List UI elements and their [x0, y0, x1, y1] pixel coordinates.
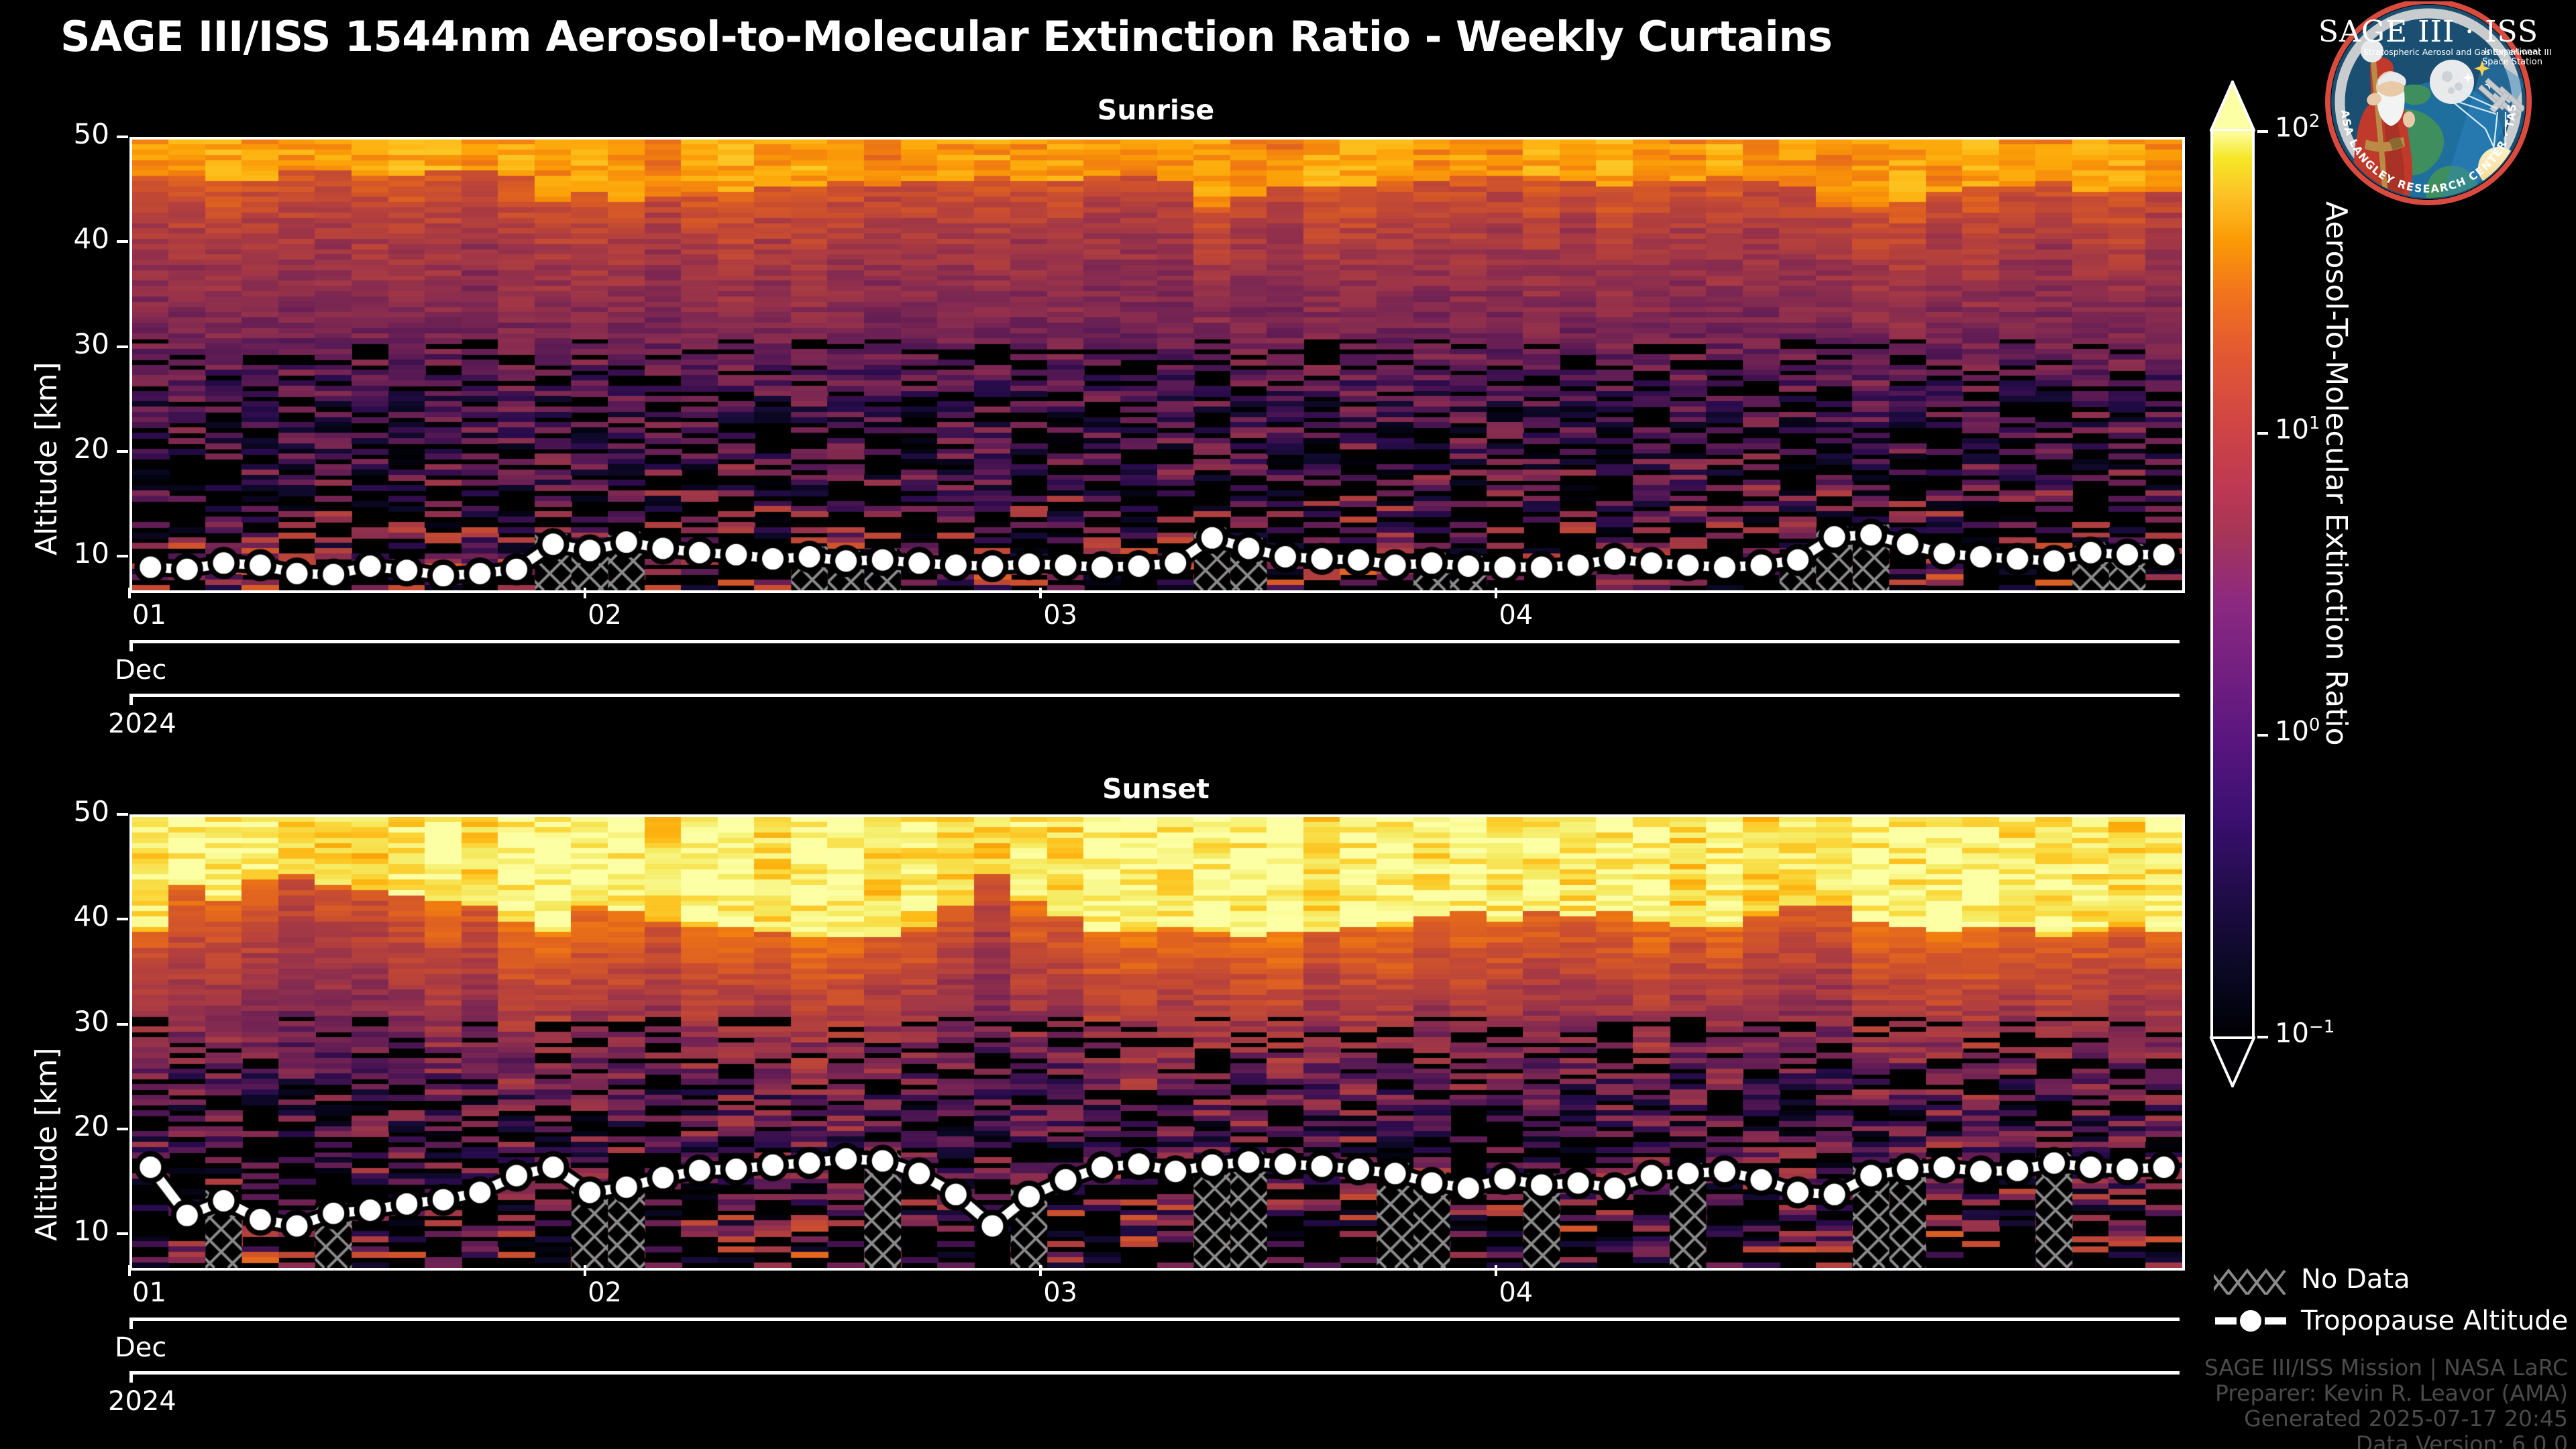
- x-tick-label-02-sunrise: 02: [588, 600, 622, 631]
- year-level-label-sunset: 2024: [108, 1386, 176, 1417]
- year-level-rule-sunset: [129, 1371, 2180, 1375]
- month-level-label-sunset: Dec: [115, 1332, 166, 1363]
- y-tick-mark-50-sunset: [117, 813, 128, 816]
- colorbar-ticklabel-1e1: 101: [2275, 413, 2320, 445]
- sage-iii-iss-mission-patch-logo: BALL · NASA LANGLEY RESEARCH CENTER · TA…: [2284, 1, 2573, 215]
- legend-label-no-data: No Data: [2301, 1264, 2410, 1295]
- colorbar[interactable]: 102 101 100 10−1: [2210, 80, 2257, 1087]
- tropopause-line-icon: [2214, 1305, 2288, 1336]
- logo-title: SAGE III · ISS: [2318, 15, 2538, 49]
- y-tick-label-50-sunset: 50: [29, 795, 109, 828]
- y-tick-mark-40-sunrise: [117, 240, 128, 243]
- credits-block: SAGE III/ISS Mission | NASA LaRC Prepare…: [2204, 1355, 2568, 1449]
- colorbar-tick-1em1: [2257, 1036, 2268, 1038]
- month-level-label-sunrise: Dec: [115, 655, 166, 686]
- x-tick-label-03-sunset: 03: [1043, 1277, 1077, 1308]
- x-tick-label-04-sunset: 04: [1499, 1277, 1533, 1308]
- legend: No Data Tropopause Altitude: [2214, 1261, 2576, 1344]
- colorbar-ticklabel-1e0: 100: [2275, 715, 2320, 747]
- y-tick-label-40-sunrise: 40: [29, 222, 109, 255]
- x-tick-label-02-sunset: 02: [588, 1277, 622, 1308]
- y-tick-label-30-sunset: 30: [29, 1005, 109, 1038]
- page-title: SAGE III/ISS 1544nm Aerosol-to-Molecular…: [60, 12, 2247, 61]
- y-tick-label-40-sunset: 40: [29, 900, 109, 932]
- colorbar-tick-1e2: [2257, 130, 2268, 133]
- y-tick-mark-10-sunrise: [117, 555, 128, 557]
- y-axis-label-sunset: Altitude [km]: [30, 1047, 64, 1241]
- colorbar-gradient: [2210, 131, 2255, 1036]
- y-tick-mark-20-sunrise: [117, 450, 128, 453]
- y-tick-mark-20-sunset: [117, 1128, 128, 1130]
- credit-line-generated: Generated 2025-07-17 20:45: [2204, 1406, 2568, 1432]
- colorbar-extend-top-arrow: [2210, 80, 2255, 131]
- month-level-rule-sunrise: [129, 640, 2180, 643]
- month-level-tick-sunset: [129, 1318, 133, 1329]
- panel-title-sunset: Sunset: [129, 773, 2182, 805]
- colorbar-ticklabel-1em1: 10−1: [2275, 1017, 2334, 1049]
- legend-item-tropopause: Tropopause Altitude: [2214, 1303, 2576, 1344]
- heatmap-panel-sunrise[interactable]: [129, 137, 2185, 593]
- panel-title-sunrise: Sunrise: [129, 94, 2182, 126]
- y-tick-mark-50-sunrise: [117, 136, 128, 138]
- year-level-tick-sunrise: [129, 694, 133, 705]
- credit-line-preparer: Preparer: Kevin R. Leavor (AMA): [2204, 1381, 2568, 1406]
- x-tick-label-01-sunrise: 01: [132, 600, 166, 631]
- y-tick-mark-30-sunrise: [117, 345, 128, 348]
- colorbar-tick-1e1: [2257, 432, 2268, 435]
- x-tick-label-04-sunrise: 04: [1499, 600, 1533, 631]
- colorbar-axis-label: Aerosol-To-Molecular Extinction Ratio: [2319, 201, 2353, 746]
- month-level-tick-sunrise: [129, 640, 133, 651]
- y-tick-label-50-sunrise: 50: [29, 117, 109, 150]
- y-tick-label-30-sunrise: 30: [29, 327, 109, 360]
- colorbar-tick-1e0: [2257, 734, 2268, 737]
- credit-line-version: Data Version: 6.0.0: [2204, 1432, 2568, 1449]
- logo-subtitle-right-line2: Space Station: [2482, 57, 2542, 67]
- legend-item-no-data: No Data: [2214, 1261, 2576, 1303]
- year-level-label-sunrise: 2024: [108, 708, 176, 739]
- year-level-rule-sunrise: [129, 694, 2180, 697]
- logo-subtitle-right-line1: International: [2485, 47, 2540, 57]
- month-level-rule-sunset: [129, 1318, 2180, 1321]
- colorbar-ticklabel-1e2: 102: [2275, 111, 2320, 143]
- year-level-tick-sunset: [129, 1371, 133, 1383]
- y-axis-label-sunrise: Altitude [km]: [30, 362, 64, 555]
- credit-line-mission: SAGE III/ISS Mission | NASA LaRC: [2204, 1355, 2568, 1381]
- x-tick-label-03-sunrise: 03: [1043, 600, 1077, 631]
- heatmap-panel-sunset[interactable]: [129, 814, 2185, 1271]
- no-data-hatch-icon: [2214, 1264, 2288, 1295]
- colorbar-extend-bottom-arrow: [2210, 1036, 2255, 1087]
- x-tick-label-01-sunset: 01: [132, 1277, 166, 1308]
- y-tick-mark-10-sunset: [117, 1232, 128, 1235]
- y-tick-mark-30-sunset: [117, 1023, 128, 1026]
- legend-label-tropopause: Tropopause Altitude: [2301, 1305, 2568, 1336]
- y-tick-mark-40-sunset: [117, 918, 128, 920]
